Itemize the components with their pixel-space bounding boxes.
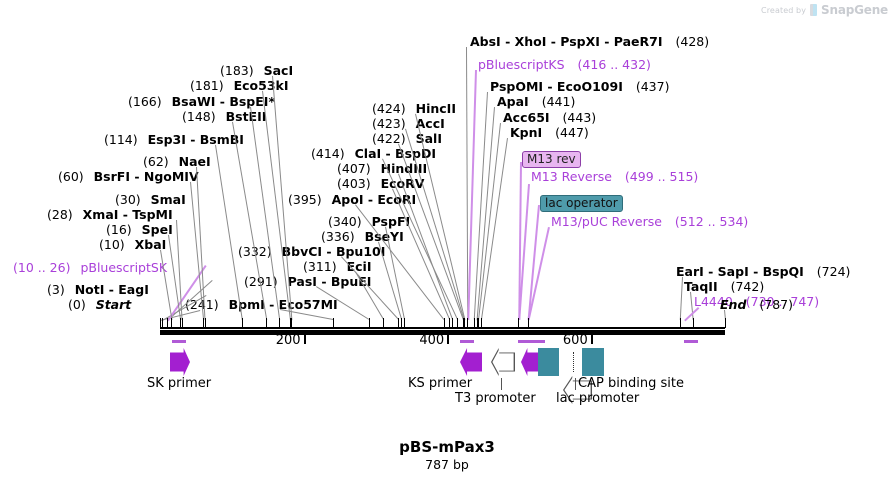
feature-label-m13-puc-reverse[interactable]: M13/pUC Reverse (512 .. 534) bbox=[551, 215, 748, 228]
ruler-tick-400 bbox=[447, 335, 449, 344]
snapgene-flag-icon bbox=[810, 4, 817, 16]
ruler-label-400: 400 bbox=[419, 333, 447, 348]
enzyme-label-pasI[interactable]: (291) PasI - BpuEI bbox=[244, 275, 371, 288]
sequence-backbone-upper bbox=[160, 327, 725, 329]
watermark-brand: SnapGene bbox=[821, 3, 888, 17]
enzyme-label-apaI[interactable]: ApaI (441) bbox=[497, 95, 575, 108]
leader-line-37 bbox=[680, 277, 683, 320]
watermark-created-by: Created by bbox=[761, 6, 806, 15]
enzyme-label-bbvCI[interactable]: (332) BbvCI - Bpu10I bbox=[238, 245, 385, 258]
enzyme-label-xbaI[interactable]: (10) XbaI bbox=[99, 238, 166, 251]
leader-line-24 bbox=[398, 144, 464, 320]
plasmid-length: 787 bp bbox=[0, 457, 894, 472]
feature-label-pbluescriptKS[interactable]: pBluescriptKS (416 .. 432) bbox=[478, 58, 651, 71]
enzyme-label-xmaI[interactable]: (28) XmaI - TspMI bbox=[47, 208, 173, 221]
enzyme-label-taqII[interactable]: TaqII (742) bbox=[684, 280, 764, 293]
marker-label-start[interactable]: (0) Start bbox=[68, 298, 131, 311]
m13-rev-badge-label: M13 rev bbox=[522, 151, 581, 168]
enzyme-label-eciI[interactable]: (311) EciI bbox=[303, 260, 372, 273]
enzyme-label-bstEII[interactable]: (148) BstEII bbox=[182, 110, 266, 123]
enzyme-label-accI[interactable]: (423) AccI bbox=[372, 117, 445, 130]
feature-label-pbluescriptSK[interactable]: (10 .. 26) pBluescriptSK bbox=[13, 261, 167, 274]
feature-glyph-t3-promoter[interactable] bbox=[491, 348, 515, 376]
site-tick-787 bbox=[725, 318, 726, 328]
lac-promoter-dotted-divider bbox=[573, 352, 574, 372]
enzyme-label-absI[interactable]: AbsI - XhoI - PspXI - PaeR7I (428) bbox=[470, 35, 709, 48]
enzyme-label-bsaWI[interactable]: (166) BsaWI - BspEI* bbox=[128, 95, 275, 108]
feature-caption-lac-promoter[interactable]: lac promoter bbox=[556, 391, 639, 406]
plasmid-title: pBS-mPax3 bbox=[0, 438, 894, 456]
enzyme-label-earI[interactable]: EarI - SapI - BspQI (724) bbox=[676, 265, 850, 278]
stem-lac-promoter bbox=[575, 378, 576, 390]
enzyme-label-sacI[interactable]: (183) SacI bbox=[220, 64, 293, 77]
lac-operator-badge-label: lac operator bbox=[540, 195, 623, 212]
leader-line-35 bbox=[528, 205, 540, 320]
ruler-tick-200 bbox=[304, 335, 306, 344]
feature-badge-lac-operator[interactable]: lac operator bbox=[540, 192, 623, 212]
enzyme-label-bpmI[interactable]: (241) BpmI - Eco57MI bbox=[185, 298, 338, 311]
enzyme-label-hindIII[interactable]: (407) HindIII bbox=[337, 162, 427, 175]
feature-badge-m13-rev[interactable]: M13 rev bbox=[522, 148, 581, 168]
ruler-label-200: 200 bbox=[276, 333, 304, 348]
enzyme-label-speI[interactable]: (16) SpeI bbox=[106, 223, 173, 236]
ruler-label-600: 600 bbox=[563, 333, 591, 348]
feature-caption-t3-promoter[interactable]: T3 promoter bbox=[455, 391, 536, 406]
feature-glyph-lac-operator-box[interactable] bbox=[538, 348, 559, 376]
stem-t3-promoter bbox=[501, 378, 502, 390]
enzyme-label-notI[interactable]: (3) NotI - EagI bbox=[47, 283, 149, 296]
feature-glyph-sk-primer[interactable] bbox=[170, 348, 190, 376]
feature-label-m13-reverse[interactable]: M13 Reverse (499 .. 515) bbox=[531, 170, 698, 183]
enzyme-label-bsrFI[interactable]: (60) BsrFI - NgoMIV bbox=[58, 170, 199, 183]
feature-caption-sk-primer[interactable]: SK primer bbox=[147, 376, 211, 391]
feature-caption-ks-primer[interactable]: KS primer bbox=[408, 376, 472, 391]
enzyme-label-acc65I[interactable]: Acc65I (443) bbox=[503, 111, 596, 124]
enzyme-label-naeI[interactable]: (62) NaeI bbox=[143, 155, 211, 168]
enzyme-label-smaI[interactable]: (30) SmaI bbox=[115, 193, 186, 206]
enzyme-label-pspOMI[interactable]: PspOMI - EcoO109I (437) bbox=[490, 80, 669, 93]
coordinate-ruler: 200400600 bbox=[160, 335, 725, 351]
enzyme-label-esp3I[interactable]: (114) Esp3I - BsmBI bbox=[104, 133, 244, 146]
feature-glyph-cap-binding-site[interactable] bbox=[582, 348, 604, 376]
feature-glyph-ks-primer[interactable] bbox=[460, 348, 482, 376]
leader-line-9 bbox=[215, 145, 243, 320]
snapgene-watermark: Created by SnapGene bbox=[761, 3, 888, 17]
marker-label-end[interactable]: End (787) bbox=[720, 298, 793, 311]
enzyme-label-claI[interactable]: (414) ClaI - BspDI bbox=[311, 147, 436, 160]
enzyme-label-kpnI[interactable]: KpnI (447) bbox=[510, 126, 589, 139]
enzyme-label-bseYI[interactable]: (336) BseYI bbox=[321, 230, 404, 243]
feature-caption-cap-binding-site[interactable]: CAP binding site bbox=[578, 376, 684, 391]
ruler-tick-600 bbox=[591, 335, 593, 344]
